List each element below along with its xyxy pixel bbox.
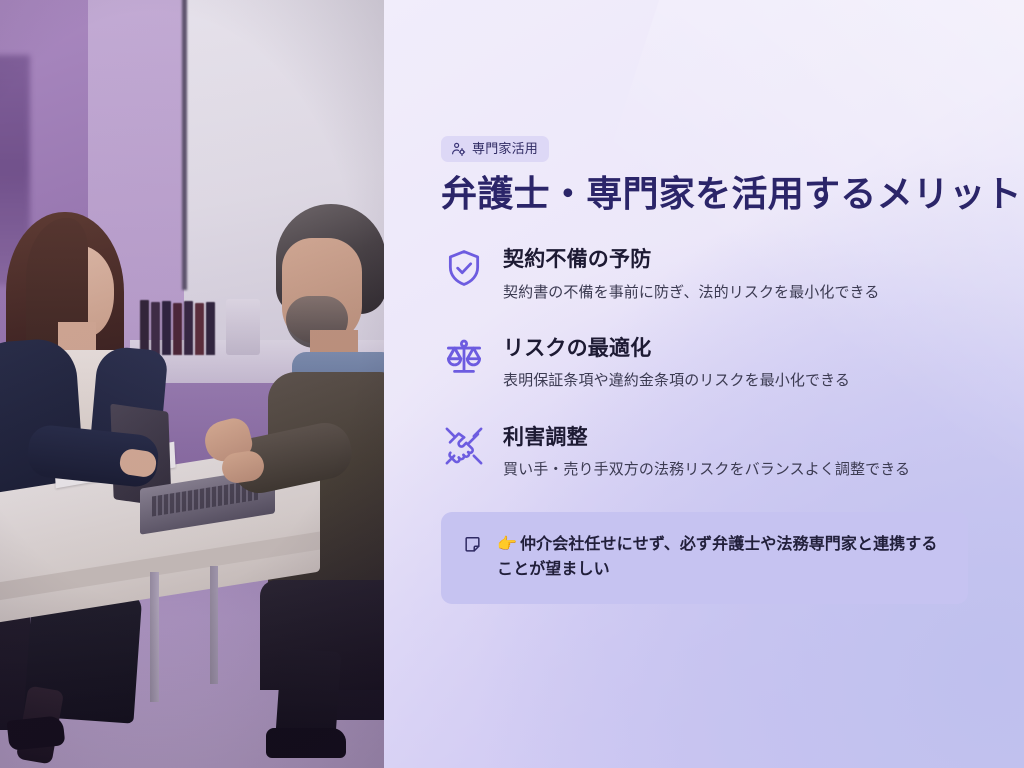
meeting-photo	[0, 0, 384, 768]
feature-body: 利害調整 買い手・売り手双方の法務リスクをバランスよく調整できる	[503, 422, 971, 482]
sticky-note-icon	[463, 535, 482, 554]
photo-table-leg-1	[150, 572, 159, 702]
photo-window-frame	[182, 0, 187, 290]
page-title: 弁護士・専門家を活用するメリット	[441, 173, 971, 215]
callout-box: 👉仲介会社任せにせず、必ず弁護士や法務専門家と連携することが望ましい	[441, 512, 968, 604]
pointing-right-emoji: 👉	[497, 536, 517, 553]
photo-man-shoe	[266, 728, 346, 758]
handshake-icon	[441, 423, 487, 469]
feature-item-risk-optimization: リスクの最適化 表明保証条項や違約金条項のリスクを最小化できる	[441, 333, 971, 393]
category-badge: 専門家活用	[441, 136, 549, 162]
feature-body: リスクの最適化 表明保証条項や違約金条項のリスクを最小化できる	[503, 333, 971, 393]
feature-description: 表明保証条項や違約金条項のリスクを最小化できる	[503, 370, 971, 393]
photo-books	[140, 300, 225, 355]
feature-body: 契約不備の予防 契約書の不備を事前に防ぎ、法的リスクを最小化できる	[503, 244, 971, 304]
shield-check-icon	[441, 245, 487, 291]
feature-item-interest-adjustment: 利害調整 買い手・売り手双方の法務リスクをバランスよく調整できる	[441, 422, 971, 482]
feature-list: 契約不備の予防 契約書の不備を事前に防ぎ、法的リスクを最小化できる	[441, 244, 971, 481]
callout-text-wrapper: 👉仲介会社任せにせず、必ず弁護士や法務専門家と連携することが望ましい	[497, 532, 944, 583]
photo-shelf-box	[226, 299, 260, 355]
photo-table-leg-2	[210, 566, 218, 684]
content-inner: 専門家活用 弁護士・専門家を活用するメリット 契約不備の予防 契約書の不備を事前…	[441, 0, 971, 604]
callout-message: 仲介会社任せにせず、必ず弁護士や法務専門家と連携することが望ましい	[497, 536, 938, 579]
feature-title: 利害調整	[503, 425, 971, 451]
feature-description: 買い手・売り手双方の法務リスクをバランスよく調整できる	[503, 459, 971, 482]
category-badge-label: 専門家活用	[472, 142, 538, 155]
content-pane: 専門家活用 弁護士・専門家を活用するメリット 契約不備の予防 契約書の不備を事前…	[384, 0, 1024, 768]
slide-root: 専門家活用 弁護士・専門家を活用するメリット 契約不備の予防 契約書の不備を事前…	[0, 0, 1024, 768]
feature-item-contract-prevention: 契約不備の予防 契約書の不備を事前に防ぎ、法的リスクを最小化できる	[441, 244, 971, 304]
photo-pane	[0, 0, 384, 768]
balance-scale-icon	[441, 334, 487, 380]
feature-description: 契約書の不備を事前に防ぎ、法的リスクを最小化できる	[503, 282, 971, 305]
user-gear-icon	[451, 141, 466, 156]
feature-title: リスクの最適化	[503, 336, 971, 362]
photo-woman-shoe	[7, 715, 66, 751]
feature-title: 契約不備の予防	[503, 247, 971, 273]
